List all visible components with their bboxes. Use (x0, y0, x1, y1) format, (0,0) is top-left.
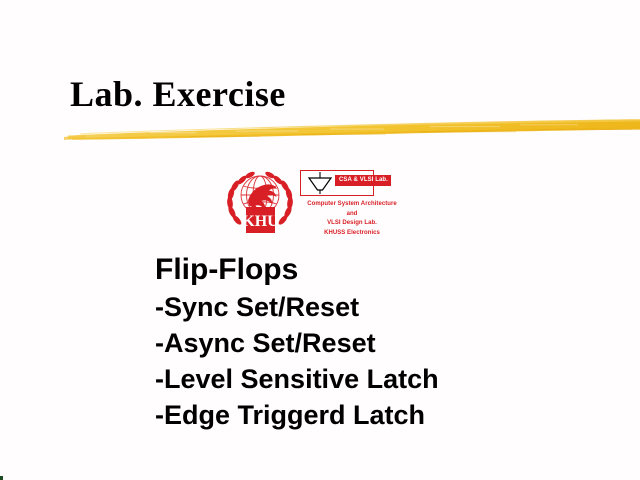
slide-canvas: Lab. Exercise (0, 0, 640, 480)
content-item-async-set-reset: -Async Set/Reset (155, 325, 615, 361)
khu-logo: KHU (226, 167, 294, 237)
lab-badge: CSA & VLSI Lab. (335, 175, 391, 186)
lab-mark: CSA & VLSI Lab. (298, 169, 406, 199)
content-item-level-sensitive-latch: -Level Sensitive Latch (155, 361, 615, 397)
content-item-sync-set-reset: -Sync Set/Reset (155, 289, 615, 325)
content-heading: Flip-Flops (155, 251, 615, 289)
lab-caption: Computer System Architecture and VLSI De… (298, 200, 406, 238)
lab-caption-line-2: and (298, 210, 406, 220)
content-block: Flip-Flops -Sync Set/Reset -Async Set/Re… (155, 251, 615, 433)
corner-mark (0, 476, 3, 480)
lab-caption-line-4: KHUSS Electronics (298, 229, 406, 239)
logo-row: KHU CSA & VLSI Lab. Computer System Arch… (226, 167, 406, 241)
lab-caption-line-1: Computer System Architecture (298, 200, 406, 210)
csa-vlsi-lab-logo: CSA & VLSI Lab. Computer System Architec… (298, 169, 406, 241)
khu-wordmark: KHU (242, 213, 279, 230)
lab-caption-line-3: VLSI Design Lab. (298, 219, 406, 229)
brush-stroke-divider (0, 112, 640, 148)
page-title: Lab. Exercise (70, 76, 286, 112)
content-item-edge-triggerd-latch: -Edge Triggerd Latch (155, 397, 615, 433)
